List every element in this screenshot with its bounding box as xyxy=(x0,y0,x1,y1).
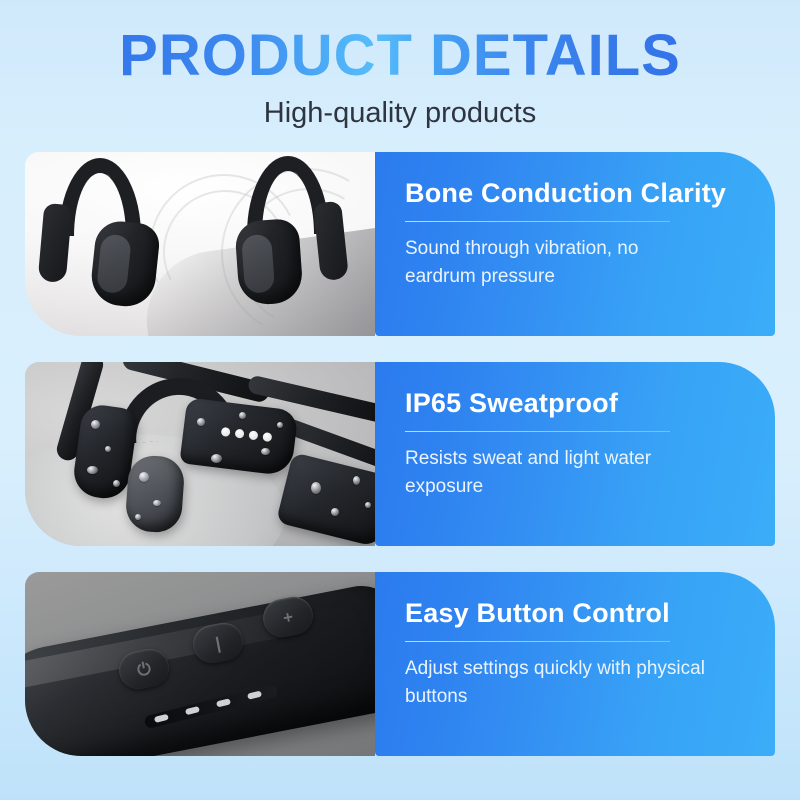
water-droplet xyxy=(91,420,100,429)
water-droplet xyxy=(211,454,222,463)
water-droplet xyxy=(261,448,270,455)
earhook-rear-arm xyxy=(313,201,349,281)
feature-text-panel: Bone Conduction Clarity Sound through vi… xyxy=(375,152,775,336)
water-droplet xyxy=(311,482,321,494)
earpiece-pad xyxy=(124,454,185,534)
feature-description: Adjust settings quickly with physical bu… xyxy=(405,655,705,710)
vent-slot-3 xyxy=(216,698,231,707)
led-dot-3 xyxy=(248,430,258,440)
led-dot-2 xyxy=(235,429,245,439)
water-droplet xyxy=(353,476,360,485)
earhook-left xyxy=(33,158,165,308)
feature-text-panel: Easy Button Control Adjust settings quic… xyxy=(375,572,775,756)
water-droplet xyxy=(239,412,246,419)
water-droplet xyxy=(197,418,205,426)
water-droplet xyxy=(135,514,141,520)
water-droplet xyxy=(331,508,339,516)
product-photo-sweatproof xyxy=(25,362,375,546)
water-droplet xyxy=(113,480,120,487)
earhook-right xyxy=(221,156,353,306)
water-droplet xyxy=(139,472,149,482)
earhook-transducer-pad xyxy=(89,219,161,309)
product-details-page: PRODUCT DETAILS High-quality products xyxy=(0,0,800,800)
feature-divider xyxy=(405,221,670,222)
feature-divider xyxy=(405,641,670,642)
page-title: PRODUCT DETAILS xyxy=(0,26,800,87)
feature-title: Easy Button Control xyxy=(405,598,741,630)
water-droplet xyxy=(87,466,98,474)
feature-divider xyxy=(405,431,670,432)
feature-card-bone-conduction: Bone Conduction Clarity Sound through vi… xyxy=(25,152,775,336)
earhook-rear-arm xyxy=(38,203,73,283)
feature-card-button-control: ⏻ | + Easy Button Control Adjust setting… xyxy=(25,572,775,756)
feature-description: Sound through vibration, no eardrum pres… xyxy=(405,235,705,290)
feature-card-sweatproof: IP65 Sweatproof Resists sweat and light … xyxy=(25,362,775,546)
page-header: PRODUCT DETAILS High-quality products xyxy=(0,0,800,130)
feature-card-list: Bone Conduction Clarity Sound through vi… xyxy=(0,152,800,756)
feature-text-panel: IP65 Sweatproof Resists sweat and light … xyxy=(375,362,775,546)
vent-slot-2 xyxy=(185,706,200,715)
product-photo-button-control: ⏻ | + xyxy=(25,572,375,756)
led-dot-1 xyxy=(221,427,231,437)
water-droplet xyxy=(277,422,283,428)
earhook-transducer-pad xyxy=(234,218,304,306)
water-droplet xyxy=(365,502,371,508)
feature-title: Bone Conduction Clarity xyxy=(405,178,741,210)
feature-description: Resists sweat and light water exposure xyxy=(405,445,705,500)
vent-slot-1 xyxy=(154,714,169,723)
water-droplet xyxy=(153,500,161,506)
vent-slot-4 xyxy=(247,690,262,699)
led-dot-4 xyxy=(262,432,272,442)
page-subtitle: High-quality products xyxy=(0,97,800,130)
feature-title: IP65 Sweatproof xyxy=(405,388,741,420)
water-droplet xyxy=(105,446,111,452)
product-photo-bone-conduction xyxy=(25,152,375,336)
